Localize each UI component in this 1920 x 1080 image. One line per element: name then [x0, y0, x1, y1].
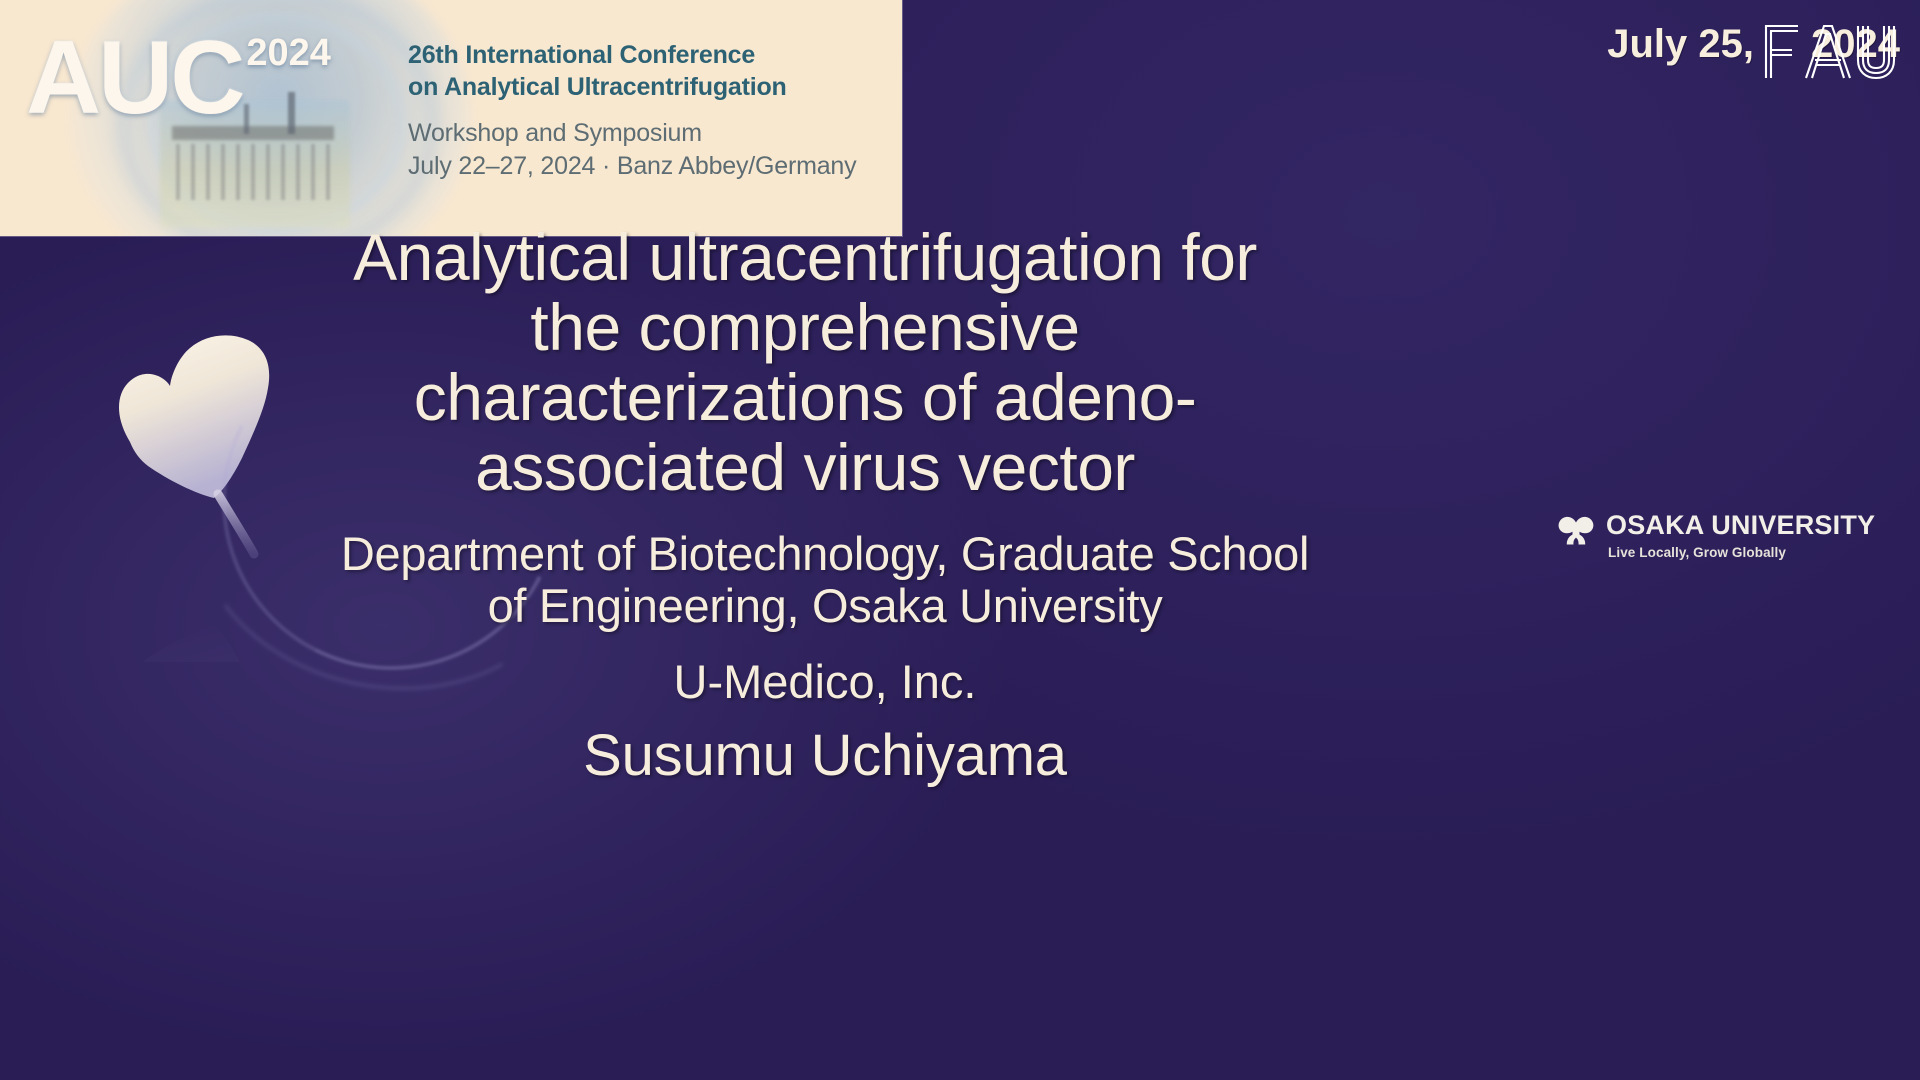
osaka-university-logo: OSAKA UNIVERSITY Live Locally, Grow Glob…	[1556, 512, 1875, 560]
author-name: Susumu Uchiyama	[200, 724, 1450, 788]
auc-logo-year: 2024	[246, 34, 331, 72]
presentation-date: July 25,	[1607, 22, 1754, 67]
conference-title-line-1: 26th International Conference	[408, 40, 888, 72]
title-line-2: the comprehensive	[290, 292, 1320, 362]
osaka-ginkgo-mark-icon	[1556, 515, 1596, 549]
title-line-4: associated virus vector	[290, 432, 1320, 502]
conference-subtitle: Workshop and Symposium	[408, 117, 888, 150]
presentation-slide: AUC 2024 26th International Conference o…	[0, 0, 1920, 1080]
conference-dates-venue: July 22–27, 2024 · Banz Abbey/Germany	[408, 150, 888, 183]
affiliation-line-2: of Engineering, Osaka University	[200, 580, 1450, 632]
banner-text-block: 26th International Conference on Analyti…	[408, 40, 888, 182]
presentation-year: 2024	[1811, 22, 1900, 67]
osaka-logo-text: OSAKA UNIVERSITY Live Locally, Grow Glob…	[1606, 512, 1875, 560]
conference-title-line-2: on Analytical Ultracentrifugation	[408, 72, 888, 104]
slide-title: Analytical ultracentrifugation for the c…	[290, 222, 1320, 502]
auc-conference-banner: AUC 2024 26th International Conference o…	[0, 0, 902, 236]
title-line-1: Analytical ultracentrifugation for	[290, 222, 1320, 292]
osaka-university-tagline: Live Locally, Grow Globally	[1608, 546, 1875, 560]
abbey-windows-detail	[176, 144, 330, 200]
auc-acronym: AUC	[26, 26, 242, 130]
osaka-university-name: OSAKA UNIVERSITY	[1606, 512, 1875, 539]
affiliation-line-1: Department of Biotechnology, Graduate Sc…	[200, 528, 1450, 580]
auc-logo: AUC 2024	[26, 26, 331, 130]
affiliation-block: Department of Biotechnology, Graduate Sc…	[200, 528, 1450, 788]
affiliation-spacer	[200, 632, 1450, 656]
company-name: U-Medico, Inc.	[200, 656, 1450, 708]
title-line-3: characterizations of adeno-	[290, 362, 1320, 432]
